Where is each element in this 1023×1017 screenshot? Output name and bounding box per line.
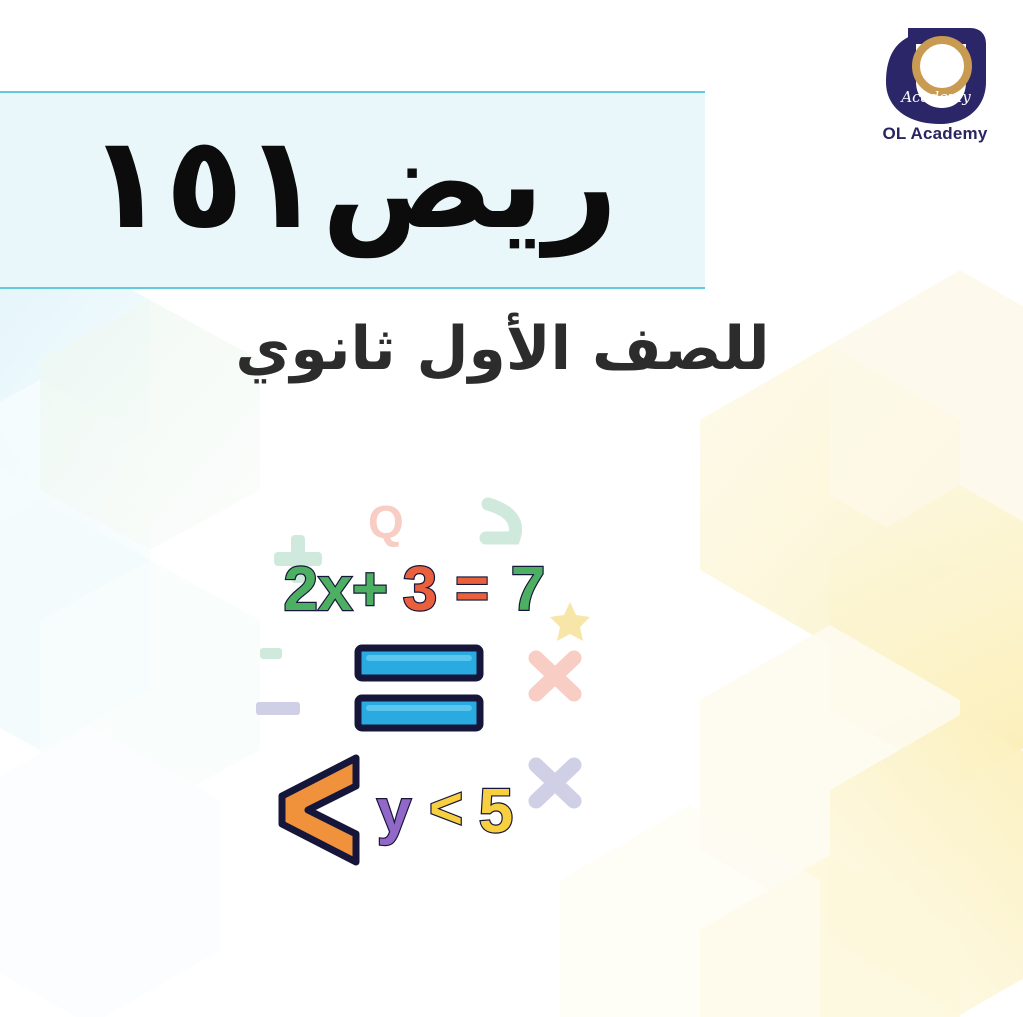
decor-arc-mint-icon: [486, 504, 516, 538]
ol-academy-mark-icon: Academy: [874, 22, 996, 130]
eq1-plus: +: [352, 555, 388, 624]
eq3-variable: y: [377, 777, 412, 846]
math-illustration: Q 2x: [248, 480, 648, 880]
decor-dash-mint-icon: [260, 648, 282, 659]
svg-text:Q: Q: [368, 496, 404, 548]
eq1-term: 2x: [284, 555, 353, 624]
logo-brand-text: OL Academy: [855, 124, 1015, 144]
page-title: ريض١٥١: [87, 120, 618, 248]
big-less-than-symbol-icon: [282, 758, 356, 862]
decor-x-lavender-icon: [536, 765, 574, 801]
subtitle-block: للصف الأول ثانوي: [0, 315, 1005, 384]
subtitle-text: للصف الأول ثانوي: [0, 315, 1005, 384]
decor-star-yellow-icon: [550, 602, 590, 641]
eq1-result: 7: [511, 555, 545, 624]
poster-root: Academy OL Academy ريض١٥١ للصف الأول ثان…: [0, 0, 1023, 1017]
brand-logo: Academy OL Academy: [855, 22, 1015, 162]
decor-x-pink-icon: [536, 658, 574, 694]
equation-line-1: 2x + 3 = 7: [284, 555, 546, 624]
eq3-operator: <: [429, 776, 463, 841]
logo-script-text: Academy: [899, 88, 971, 106]
eq3-bound: 5: [479, 777, 513, 846]
equation-line-3: y < 5: [377, 776, 513, 846]
eq1-equals: =: [455, 556, 489, 621]
title-banner: ريض١٥١: [0, 91, 705, 289]
decor-dash-lavender-icon: [256, 702, 300, 715]
big-equals-symbol-icon: [358, 648, 480, 728]
eq1-constant: 3: [403, 555, 437, 624]
decor-q-pink-icon: Q: [368, 496, 404, 548]
